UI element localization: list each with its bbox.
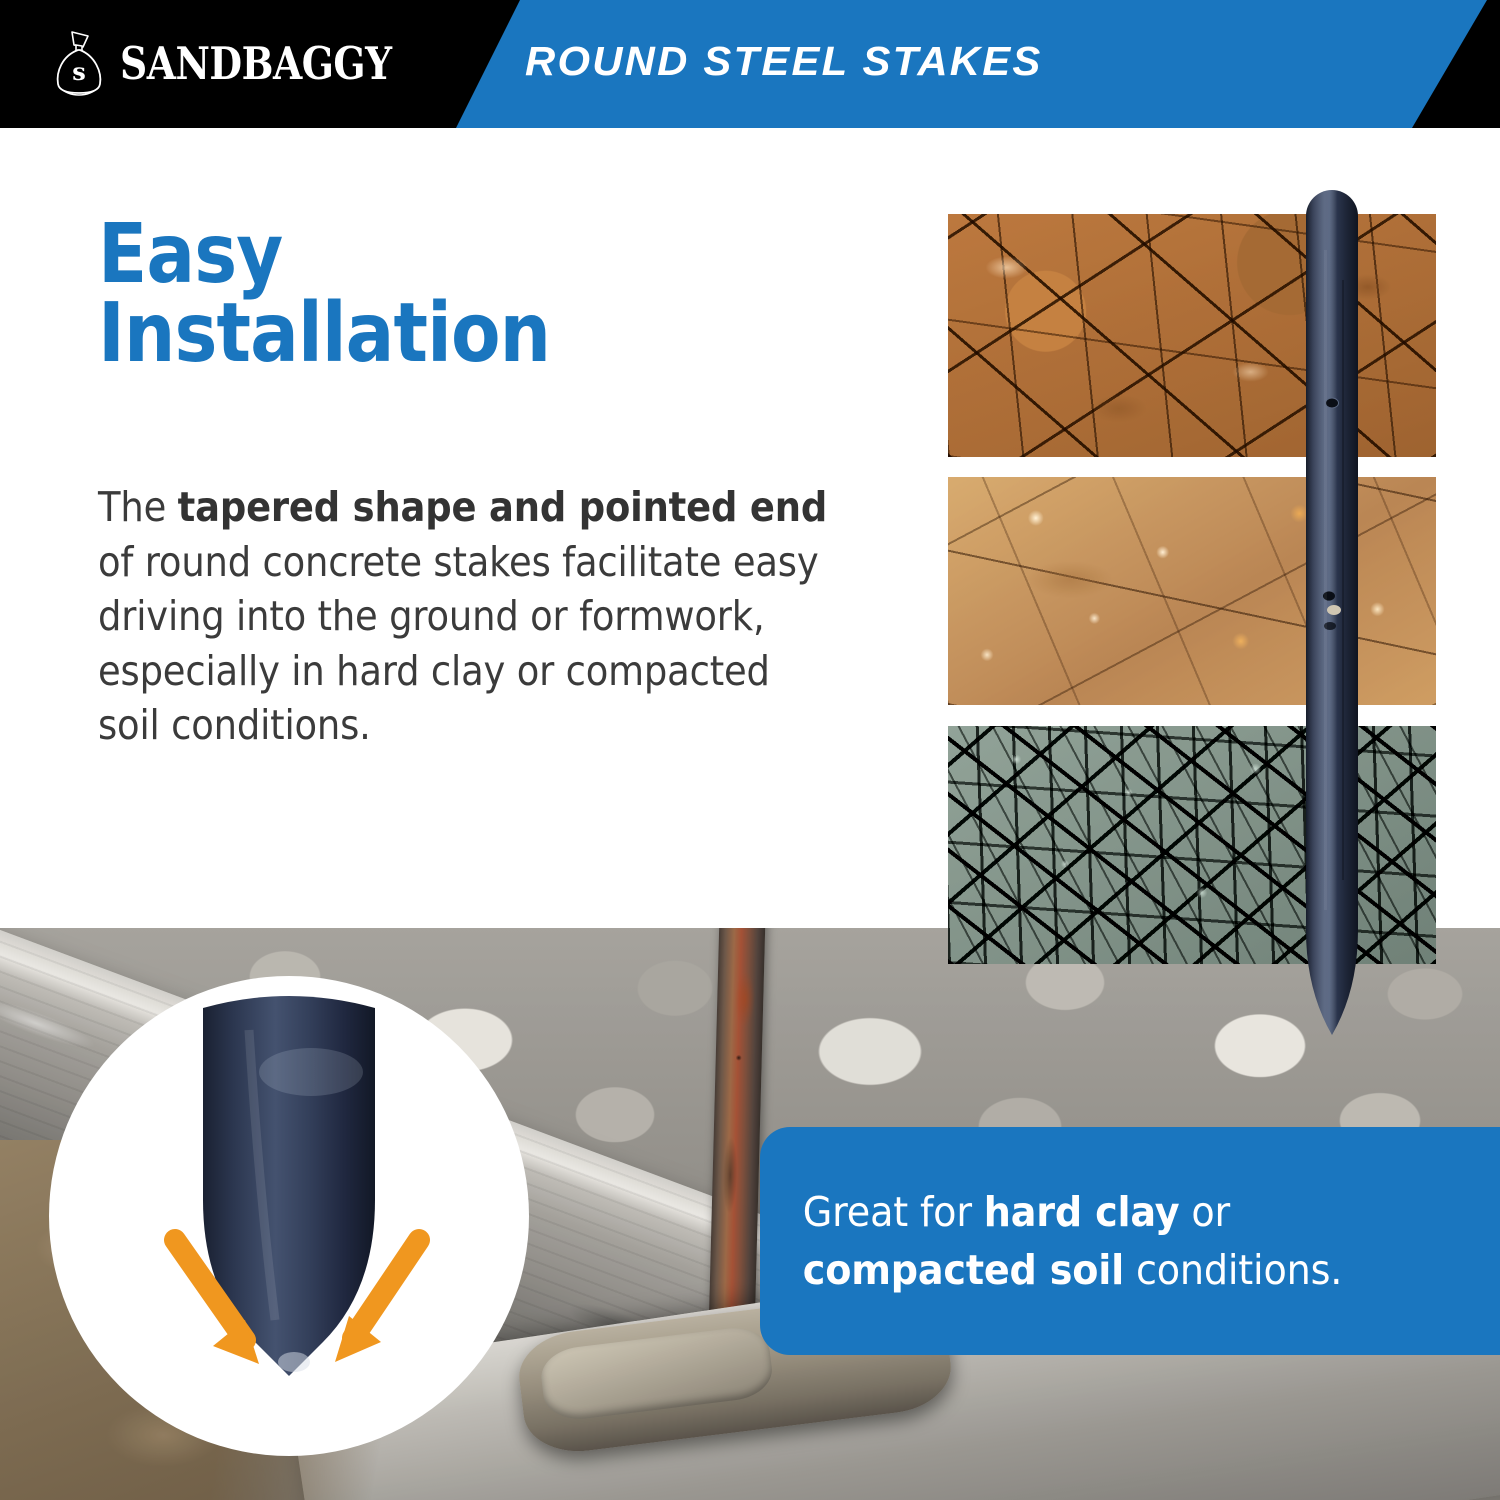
body-text-part-2: of round concrete stakes facilitate easy…	[98, 538, 818, 750]
callout-bold-1: hard clay	[984, 1188, 1180, 1236]
stake-tip-illustration	[63, 990, 515, 1442]
infographic-canvas: s SANDBAGGY ROUND STEEL STAKES Easy Inst…	[0, 0, 1500, 1500]
page-headline: Easy Installation	[98, 216, 550, 373]
callout-part-2: or	[1179, 1188, 1230, 1236]
body-text-bold-1: tapered shape and pointed end	[178, 483, 827, 531]
callout-bold-2: compacted soil	[803, 1246, 1124, 1294]
soil-panel-cracked-red-clay	[948, 214, 1436, 457]
sandbag-icon: s	[52, 30, 106, 96]
product-title: ROUND STEEL STAKES	[525, 38, 1043, 85]
stake-tip-detail-inset	[63, 990, 515, 1442]
headline-line-2: Installation	[98, 295, 550, 374]
tan-compacted-rocky-soil-image	[948, 477, 1436, 705]
callout-text: Great for hard clay or compacted soil co…	[760, 1183, 1467, 1299]
soil-panel-tan-compacted	[948, 477, 1436, 705]
soil-panel-grey-cracked	[948, 726, 1436, 964]
upper-content-area: Easy Installation The tapered shape and …	[0, 128, 1500, 928]
grey-green-cracked-mud-image	[948, 726, 1436, 964]
svg-text:s: s	[72, 57, 86, 86]
callout-part-1: Great for	[803, 1188, 984, 1236]
header-bar: s SANDBAGGY ROUND STEEL STAKES	[0, 0, 1500, 128]
brand-logo: s SANDBAGGY	[52, 30, 412, 96]
body-paragraph: The tapered shape and pointed end of rou…	[98, 480, 836, 753]
cracked-red-clay-soil-image	[948, 214, 1436, 457]
soil-panel-stack	[948, 214, 1436, 964]
brand-name: SANDBAGGY	[120, 41, 392, 86]
callout-part-3: conditions.	[1124, 1246, 1342, 1294]
callout-banner: Great for hard clay or compacted soil co…	[760, 1127, 1500, 1355]
body-text-part-1: The	[98, 483, 178, 531]
